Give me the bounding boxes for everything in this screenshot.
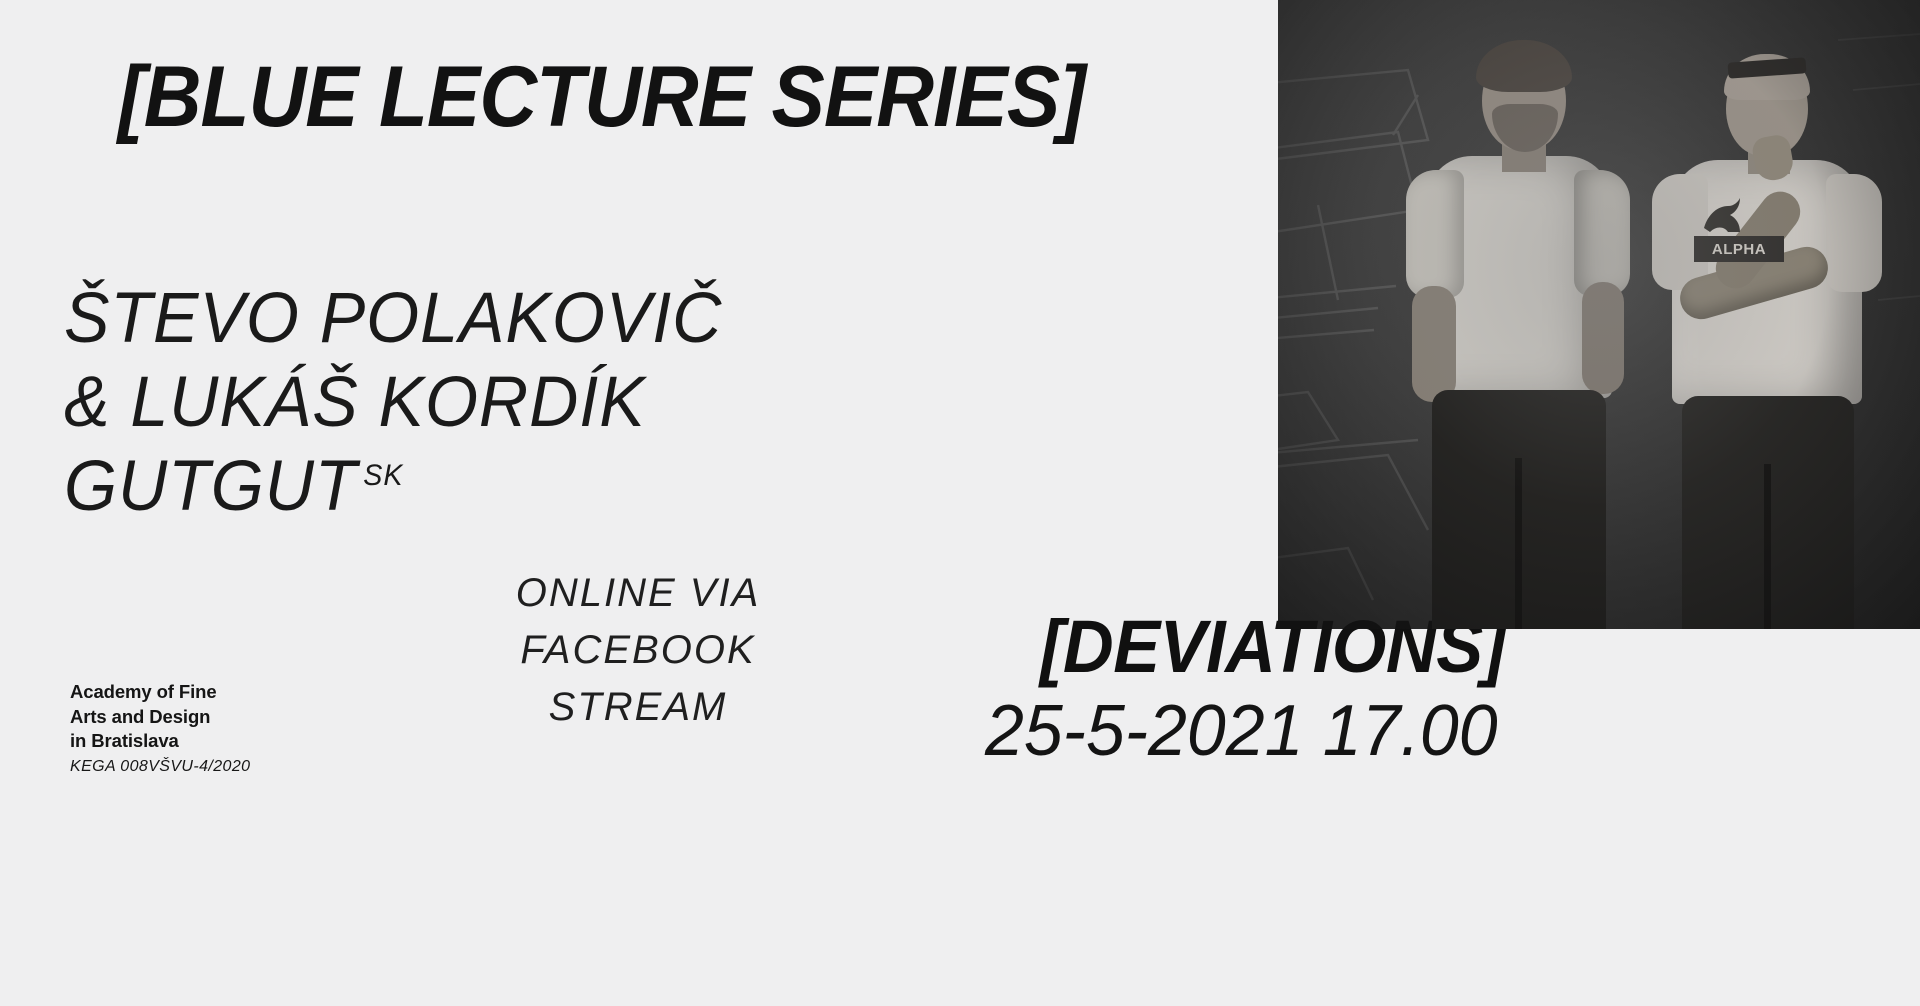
- speaker-photo: ALPHA: [1278, 0, 1920, 629]
- speaker-name-line-1: ŠTEVO POLAKOVIČ: [64, 277, 722, 361]
- photo-figure-right: ALPHA: [1650, 44, 1886, 629]
- speaker-names: ŠTEVO POLAKOVIČ & LUKÁŠ KORDÍK GUTGUTSK: [64, 277, 722, 528]
- grant-code: KEGA 008VŠVU-4/2020: [70, 758, 250, 776]
- stream-line-2: FACEBOOK: [458, 622, 818, 679]
- figure-left-sleeve-left: [1406, 170, 1464, 298]
- figure-right-leg-split: [1764, 464, 1771, 629]
- poster-canvas: ALPHA [BLUE LECTURE SERIES] ŠTEVO POLAKO…: [0, 0, 1920, 1006]
- figure-left-sleeve-right: [1574, 170, 1630, 296]
- stream-info: ONLINE VIA FACEBOOK STREAM: [458, 565, 818, 735]
- stream-line-1: ONLINE VIA: [458, 565, 818, 622]
- speaker-studio-line: GUTGUTSK: [64, 445, 722, 529]
- figure-right-sleeve-right: [1826, 174, 1882, 292]
- figure-left-leg-split: [1515, 458, 1522, 629]
- figure-left-arm-right: [1582, 282, 1624, 394]
- stream-line-3: STREAM: [458, 679, 818, 736]
- figure-left-arm-left: [1412, 286, 1456, 402]
- institution-line-1: Academy of Fine: [70, 680, 217, 705]
- speaker-country-superscript: SK: [358, 459, 404, 492]
- photo-figure-left: [1398, 38, 1638, 629]
- speaker-name-line-2: & LUKÁŠ KORDÍK: [64, 361, 722, 445]
- shirt-label-text: ALPHA: [1694, 236, 1784, 262]
- shirt-bird-graphic: [1698, 194, 1748, 238]
- institution-line-3: in Bratislava: [70, 729, 217, 754]
- institution-logo-text: Academy of Fine Arts and Design in Brati…: [70, 680, 217, 754]
- figure-left-hair: [1476, 40, 1572, 92]
- speaker-studio-name: GUTGUT: [64, 447, 358, 526]
- institution-line-2: Arts and Design: [70, 705, 217, 730]
- page-title: [BLUE LECTURE SERIES]: [118, 48, 1085, 147]
- event-datetime: 25-5-2021 17.00: [985, 690, 1498, 772]
